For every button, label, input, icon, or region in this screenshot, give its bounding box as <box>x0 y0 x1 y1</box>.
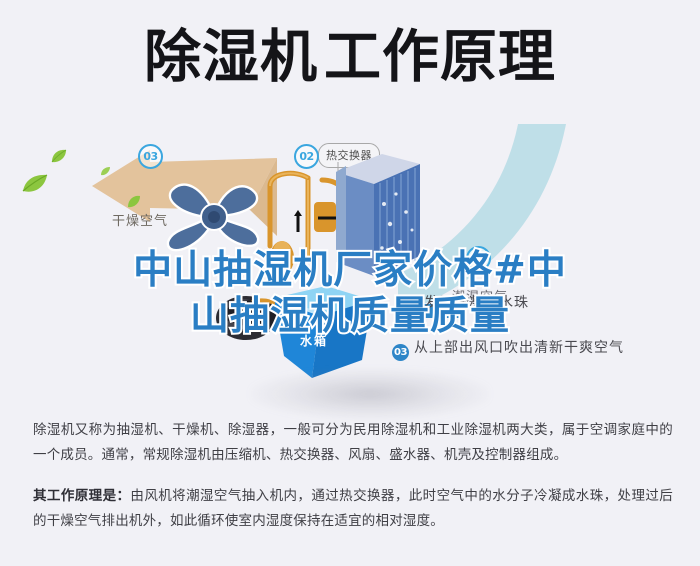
step-item-03: 03从上部出风口吹出清新干爽空气 <box>392 337 624 361</box>
badge-03-step: 03 <box>392 344 409 361</box>
watermark-line-1: 中山抽湿机厂家价格#中 <box>133 248 567 293</box>
body-copy: 除湿机又称为抽湿机、干燥机、除湿器，一般可分为民用除湿机和工业除湿机两大类，属于… <box>33 418 673 550</box>
page-title-part2: 工作原理 <box>324 24 556 90</box>
page-root: 除湿机工作原理 干燥空气 03 <box>0 0 700 566</box>
leaf-icon <box>50 148 68 170</box>
page-title-part1: 除湿机 <box>144 24 318 90</box>
page-title: 除湿机工作原理 <box>0 26 700 88</box>
leaf-icon <box>100 162 111 181</box>
paragraph-1: 除湿机又称为抽湿机、干燥机、除湿器，一般可分为民用除湿机和工业除湿机两大类，属于… <box>33 418 673 468</box>
leaf-icon <box>22 173 48 199</box>
machine-shadow <box>250 368 490 420</box>
paragraph-2-lead: 其工作原理是： <box>33 488 130 504</box>
step-03-text: 从上部出风口吹出清新干爽空气 <box>414 340 624 356</box>
watermark-line-2: 山抽湿机质量质量 <box>0 294 700 340</box>
watermark-overlay: 中山抽湿机厂家价格#中 山抽湿机质量质量 <box>0 248 700 340</box>
paragraph-2: 其工作原理是：由风机将潮湿空气抽入机内，通过热交换器，此时空气中的水分子冷凝成水… <box>33 484 673 534</box>
leaf-icon <box>126 194 142 214</box>
